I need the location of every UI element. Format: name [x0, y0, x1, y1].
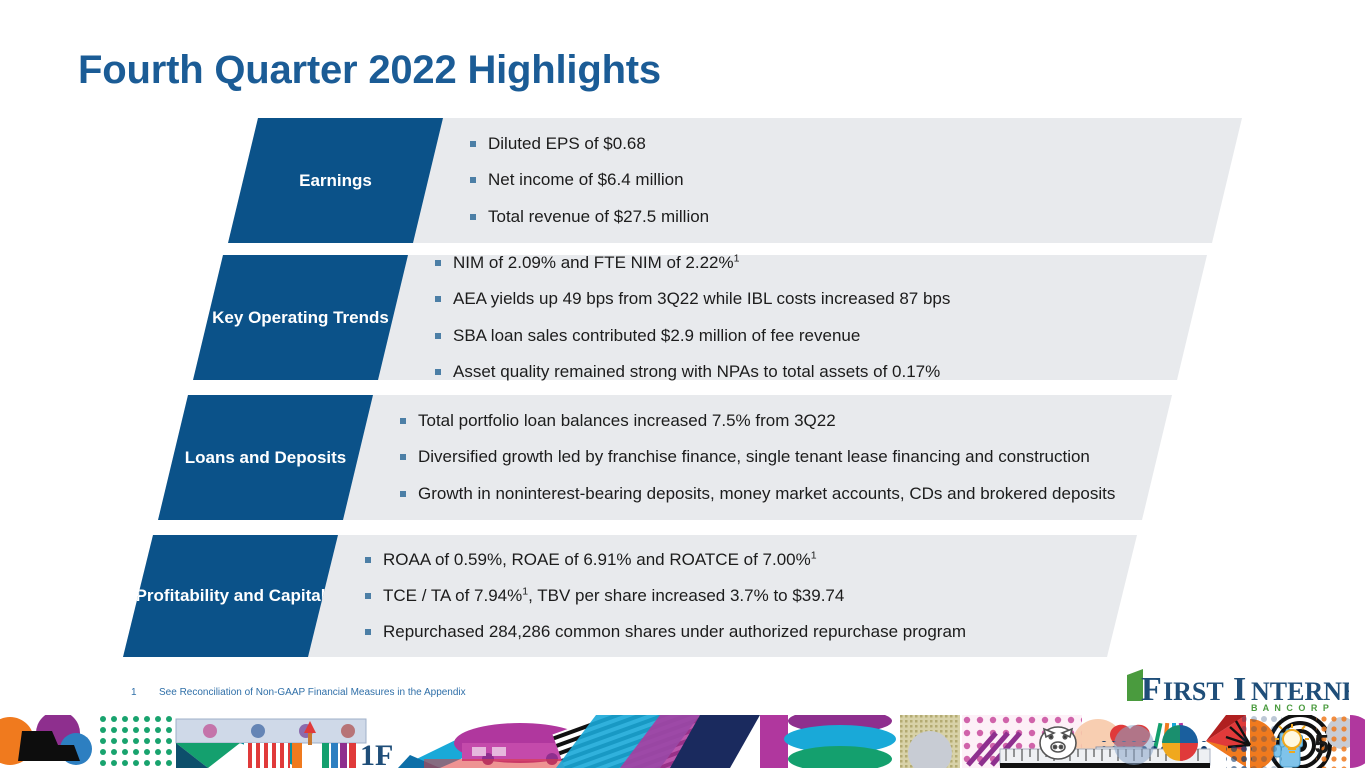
logo-word-first: IRST — [1163, 677, 1224, 706]
bullet-item: Total revenue of $27.5 million — [470, 206, 1365, 228]
bullet-square-icon — [435, 296, 441, 302]
bullet-item: Total portfolio loan balances increased … — [400, 410, 1313, 432]
footnote-ref: 1 — [734, 253, 740, 265]
bullet-item: SBA loan sales contributed $2.9 million … — [435, 325, 1348, 347]
bullet-text: Asset quality remained strong with NPAs … — [453, 361, 940, 383]
band-label-text: Profitability and Capital — [136, 585, 326, 607]
band-bullet-list: NIM of 2.09% and FTE NIM of 2.22%1AEA yi… — [435, 255, 1348, 380]
bullet-square-icon — [400, 454, 406, 460]
highlight-band: Loans and DepositsTotal portfolio loan b… — [0, 395, 1365, 520]
bullet-text: Diluted EPS of $0.68 — [488, 133, 646, 155]
bullet-item: Net income of $6.4 million — [470, 169, 1365, 191]
slide: Fourth Quarter 2022 Highlights EarningsD… — [0, 0, 1365, 768]
footnote-text: See Reconciliation of Non-GAAP Financial… — [159, 687, 466, 698]
highlight-band: Profitability and CapitalROAA of 0.59%, … — [0, 535, 1365, 657]
bullet-square-icon — [435, 260, 441, 266]
bullet-text: Total revenue of $27.5 million — [488, 206, 709, 228]
bullet-text: NIM of 2.09% and FTE NIM of 2.22%1 — [453, 252, 739, 274]
bullet-item: ROAA of 0.59%, ROAE of 6.91% and ROATCE … — [365, 549, 1278, 571]
footnote-ref: 1 — [811, 549, 817, 561]
highlight-band: EarningsDiluted EPS of $0.68Net income o… — [0, 118, 1365, 243]
bullet-item: Repurchased 284,286 common shares under … — [365, 621, 1278, 643]
logo-word-internet: NTERNET — [1251, 677, 1349, 706]
band-label-text: Earnings — [299, 170, 372, 192]
bullet-square-icon — [435, 369, 441, 375]
bullet-square-icon — [400, 491, 406, 497]
bullet-item: Diversified growth led by franchise fina… — [400, 446, 1313, 468]
bullet-item: TCE / TA of 7.94%1, TBV per share increa… — [365, 585, 1278, 607]
company-logo: F IRST I NTERNET B A N C O R P — [1121, 667, 1349, 713]
svg-text:1F: 1F — [360, 739, 393, 768]
bullet-text: Growth in noninterest-bearing deposits, … — [418, 483, 1115, 505]
logo-letter-i: I — [1233, 671, 1246, 708]
footnote: 1 See Reconciliation of Non-GAAP Financi… — [131, 687, 466, 698]
bullet-square-icon — [365, 557, 371, 563]
band-label-text: Key Operating Trends — [212, 307, 389, 329]
bullet-text: Net income of $6.4 million — [488, 169, 684, 191]
decorative-footer-strip: 1F — [0, 715, 1365, 768]
bullet-square-icon — [365, 593, 371, 599]
bullet-item: Growth in noninterest-bearing deposits, … — [400, 483, 1313, 505]
band-label-text: Loans and Deposits — [185, 447, 347, 469]
bullet-square-icon — [470, 141, 476, 147]
bullet-text: AEA yields up 49 bps from 3Q22 while IBL… — [453, 288, 950, 310]
band-bullet-list: Diluted EPS of $0.68Net income of $6.4 m… — [470, 118, 1365, 243]
footnote-number: 1 — [131, 687, 159, 698]
band-label: Earnings — [228, 118, 443, 243]
bullet-square-icon — [400, 418, 406, 424]
bullet-text: TCE / TA of 7.94%1, TBV per share increa… — [383, 585, 844, 607]
footer-collage: 1F — [0, 715, 1365, 768]
bullet-square-icon — [470, 177, 476, 183]
page-title: Fourth Quarter 2022 Highlights — [78, 48, 661, 93]
bullet-text: Total portfolio loan balances increased … — [418, 410, 836, 432]
band-label: Profitability and Capital — [123, 535, 338, 657]
bullet-item: Diluted EPS of $0.68 — [470, 133, 1365, 155]
bullet-square-icon — [365, 629, 371, 635]
bullet-item: Asset quality remained strong with NPAs … — [435, 361, 1348, 383]
band-bullet-list: ROAA of 0.59%, ROAE of 6.91% and ROATCE … — [365, 535, 1278, 657]
band-label: Key Operating Trends — [193, 255, 408, 380]
bullet-text: Diversified growth led by franchise fina… — [418, 446, 1090, 468]
first-internet-bancorp-logo-svg: F IRST I NTERNET B A N C O R P — [1121, 667, 1349, 713]
logo-subtitle-bancorp: B A N C O R P — [1251, 703, 1330, 713]
bullet-text: Repurchased 284,286 common shares under … — [383, 621, 966, 643]
logo-letter-f: F — [1141, 671, 1162, 708]
band-label: Loans and Deposits — [158, 395, 373, 520]
bullet-item: NIM of 2.09% and FTE NIM of 2.22%1 — [435, 252, 1348, 274]
bullet-item: AEA yields up 49 bps from 3Q22 while IBL… — [435, 288, 1348, 310]
page-number: 5 — [1315, 729, 1329, 760]
bullet-square-icon — [470, 214, 476, 220]
footnote-ref: 1 — [522, 585, 528, 597]
highlight-band: Key Operating TrendsNIM of 2.09% and FTE… — [0, 255, 1365, 380]
bullet-text: SBA loan sales contributed $2.9 million … — [453, 325, 860, 347]
bullet-square-icon — [435, 333, 441, 339]
bullet-text: ROAA of 0.59%, ROAE of 6.91% and ROATCE … — [383, 549, 817, 571]
band-bullet-list: Total portfolio loan balances increased … — [400, 395, 1313, 520]
